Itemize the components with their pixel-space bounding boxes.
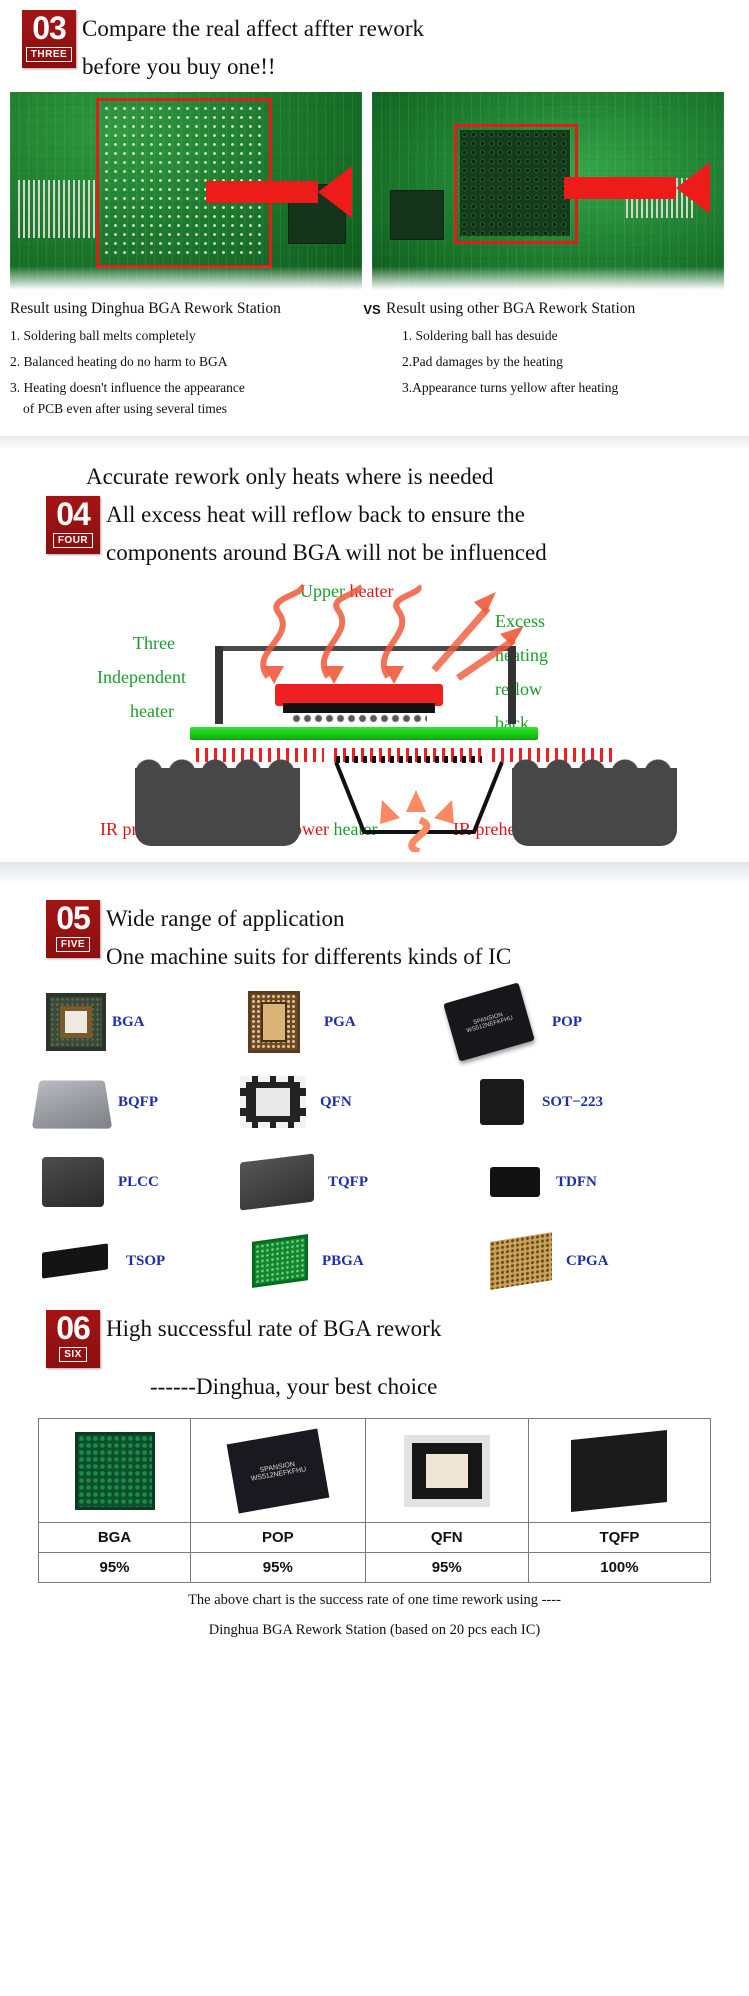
pcb-board (190, 727, 538, 740)
left-heading: Result using Dinghua BGA Rework Station (10, 298, 360, 319)
ic-label: POP (552, 1014, 582, 1031)
upper-heater-block (283, 703, 435, 713)
comparison-text: Result using Dinghua BGA Rework Station … (0, 292, 749, 418)
ic-item-tsop: TSOP (0, 1248, 230, 1274)
header-cell: POP (191, 1523, 366, 1553)
pbga-chip-icon (252, 1234, 308, 1288)
badge-06: 06 SIX (46, 1310, 100, 1368)
section-04-header: 04 FOUR All excess heat will reflow back… (0, 496, 749, 572)
arrow-shaft (564, 177, 676, 199)
ic-label: TQFP (328, 1174, 368, 1191)
bqfp-chip-icon (32, 1080, 113, 1128)
success-rate-chart: SPANSIONWS512NEFKFHU BGA POP QFN TQFP (0, 1410, 749, 1643)
chart-note-line-2: Dinghua BGA Rework Station (based on 20 … (38, 1613, 711, 1643)
right-item-1: 1. Soldering ball has desuide (384, 326, 739, 345)
ic-item-bga: BGA (0, 993, 230, 1051)
header-cell: QFN (365, 1523, 528, 1553)
badge-03: 03 THREE (22, 10, 76, 68)
section-04-title-line-2: All excess heat will reflow back to ensu… (106, 496, 547, 534)
section-05-title-line-2: One machine suits for differents kinds o… (106, 938, 511, 976)
success-rate-table: SPANSIONWS512NEFKFHU BGA POP QFN TQFP (38, 1418, 711, 1583)
ic-row-4: TSOP PBGA CPGA (0, 1222, 749, 1300)
photo-fade (10, 266, 362, 292)
section-06-title-line-1: High successful rate of BGA rework (106, 1310, 441, 1348)
label-heater: heater (130, 698, 174, 724)
badge-number: 03 (32, 11, 66, 45)
photo-fade (372, 266, 724, 292)
value-cell: 95% (365, 1553, 528, 1583)
pop-photo-icon: SPANSIONWS512NEFKFHU (226, 1428, 329, 1513)
ic-item-sot223: SOT−223 (450, 1079, 700, 1125)
value-cell: 100% (528, 1553, 710, 1583)
ic-row-1: BGA PGA SPANSIONWS512NEFKFHU POP (0, 982, 749, 1062)
cell-photo-tqfp (528, 1419, 710, 1523)
ic-type-grid: BGA PGA SPANSIONWS512NEFKFHU POP BQFP (0, 976, 749, 1300)
ic-item-bqfp: BQFP (0, 1075, 230, 1129)
diagram-post-left (215, 646, 223, 724)
ic-label: CPGA (566, 1253, 609, 1270)
right-item-2: 2.Pad damages by the heating (384, 352, 739, 371)
section-04-title-line-1: Accurate rework only heats where is need… (86, 458, 749, 496)
arrow-head-icon (318, 166, 352, 218)
section-divider (0, 862, 749, 884)
ic-label: BGA (112, 1014, 145, 1031)
qfn-photo-icon (404, 1435, 490, 1507)
ic-item-qfn: QFN (230, 1076, 450, 1128)
product-detail-page: 03 THREE Compare the real affect affter … (0, 0, 749, 1657)
left-item-3: 3. Heating doesn't influence the appeara… (10, 378, 360, 397)
pcb-pads-left (18, 180, 96, 238)
comparison-left-column: Result using Dinghua BGA Rework Station … (10, 298, 360, 418)
cell-photo-qfn (365, 1419, 528, 1523)
ic-item-plcc: PLCC (0, 1157, 230, 1207)
badge-word: FOUR (53, 533, 93, 548)
plcc-chip-icon (42, 1157, 104, 1207)
photo-dinghua-result (10, 92, 362, 292)
pop-chip-icon: SPANSIONWS512NEFKFHU (443, 982, 535, 1061)
label-independent: Independent (97, 664, 186, 690)
cpga-chip-icon (490, 1232, 552, 1290)
ir-preheater-block-left (135, 768, 300, 846)
ic-row-2: BQFP QFN SOT−223 (0, 1062, 749, 1142)
highlight-box (454, 124, 578, 244)
left-item-3-cont: of PCB even after using several times (10, 399, 360, 418)
sot223-chip-icon (480, 1079, 524, 1125)
tqfp-chip-icon (240, 1153, 314, 1210)
left-item-2: 2. Balanced heating do no harm to BGA (10, 352, 360, 371)
badge-number: 05 (56, 901, 90, 935)
arrow-shaft (206, 181, 318, 203)
badge-number: 04 (56, 497, 90, 531)
cell-photo-pop: SPANSIONWS512NEFKFHU (191, 1419, 366, 1523)
chart-note-line-1: The above chart is the success rate of o… (38, 1583, 711, 1613)
tdfn-chip-icon (490, 1167, 540, 1197)
badge-05: 05 FIVE (46, 900, 100, 958)
ic-item-tqfp: TQFP (230, 1158, 450, 1206)
badge-word: FIVE (56, 937, 90, 952)
ic-row-3: PLCC TQFP TDFN (0, 1142, 749, 1222)
ic-item-pbga: PBGA (230, 1238, 450, 1284)
left-item-1: 1. Soldering ball melts completely (10, 326, 360, 345)
section-06-title-line-2: ------Dinghua, your best choice (150, 1368, 749, 1406)
table-row-values: 95% 95% 95% 100% (39, 1553, 711, 1583)
ic-item-pga: PGA (230, 991, 450, 1053)
bga-chip-icon (46, 993, 106, 1051)
section-03-title-line-2: before you buy one!! (82, 48, 424, 86)
ic-label: PBGA (322, 1253, 364, 1270)
right-heading: Result using other BGA Rework Station (384, 298, 739, 319)
header-cell: TQFP (528, 1523, 710, 1553)
qfn-chip-icon (240, 1076, 306, 1128)
photo-other-result (372, 92, 724, 292)
section-04-title: All excess heat will reflow back to ensu… (106, 496, 547, 572)
badge-word: THREE (26, 47, 72, 62)
pga-chip-icon (248, 991, 300, 1053)
ic-item-cpga: CPGA (450, 1237, 700, 1285)
section-04-title-line-3: components around BGA will not be influe… (106, 534, 547, 572)
comparison-right-column: Result using other BGA Rework Station 1.… (384, 298, 739, 418)
ic-label: TSOP (126, 1253, 165, 1270)
bga-photo-icon (75, 1432, 155, 1510)
ir-preheater-block-right (512, 768, 677, 846)
convection-arrows-icon (238, 582, 558, 692)
section-03-header: 03 THREE Compare the real affect affter … (0, 0, 749, 86)
comparison-photos (0, 86, 749, 292)
section-03-title-line-1: Compare the real affect affter rework (82, 10, 424, 48)
ic-item-tdfn: TDFN (450, 1167, 700, 1197)
section-05-applications: 05 FIVE Wide range of application One ma… (0, 884, 749, 1300)
value-cell: 95% (191, 1553, 366, 1583)
section-06-success-rate: 06 SIX High successful rate of BGA rewor… (0, 1300, 749, 1657)
value-cell: 95% (39, 1553, 191, 1583)
section-03-title: Compare the real affect affter rework be… (82, 10, 424, 86)
badge-word: SIX (59, 1347, 87, 1362)
heating-diagram: Upper heater Three Independent heater Ex… (0, 572, 749, 862)
tsop-chip-icon (42, 1243, 108, 1278)
ic-label: SOT−223 (542, 1094, 603, 1111)
section-05-title: Wide range of application One machine su… (106, 900, 511, 976)
ic-label: PLCC (118, 1174, 159, 1191)
label-three: Three (133, 630, 175, 656)
ic-item-pop: SPANSIONWS512NEFKFHU POP (450, 992, 700, 1052)
section-06-title: High successful rate of BGA rework (106, 1310, 441, 1348)
ic-label: QFN (320, 1094, 352, 1111)
table-row-photos: SPANSIONWS512NEFKFHU (39, 1419, 711, 1523)
arrow-head-icon (676, 162, 710, 214)
ic-label: PGA (324, 1014, 356, 1031)
right-item-3: 3.Appearance turns yellow after heating (384, 378, 739, 397)
pcb-chip-left (390, 190, 444, 240)
bga-solder-balls (291, 713, 427, 724)
section-05-header: 05 FIVE Wide range of application One ma… (0, 884, 749, 976)
section-05-title-line-1: Wide range of application (106, 900, 511, 938)
badge-04: 04 FOUR (46, 496, 100, 554)
vs-label: VS (360, 298, 384, 418)
cell-photo-bga (39, 1419, 191, 1523)
section-06-header: 06 SIX High successful rate of BGA rewor… (0, 1300, 749, 1368)
ic-label: TDFN (556, 1174, 597, 1191)
lower-heater-plate (336, 756, 482, 763)
section-03-compare: 03 THREE Compare the real affect affter … (0, 0, 749, 436)
badge-number: 06 (56, 1311, 90, 1345)
lower-heater-cone-icon (324, 760, 514, 852)
section-divider (0, 436, 749, 450)
ic-label: BQFP (118, 1094, 158, 1111)
header-cell: BGA (39, 1523, 191, 1553)
table-row-headers: BGA POP QFN TQFP (39, 1523, 711, 1553)
tqfp-photo-icon (571, 1429, 667, 1511)
section-04-heating: Accurate rework only heats where is need… (0, 450, 749, 862)
